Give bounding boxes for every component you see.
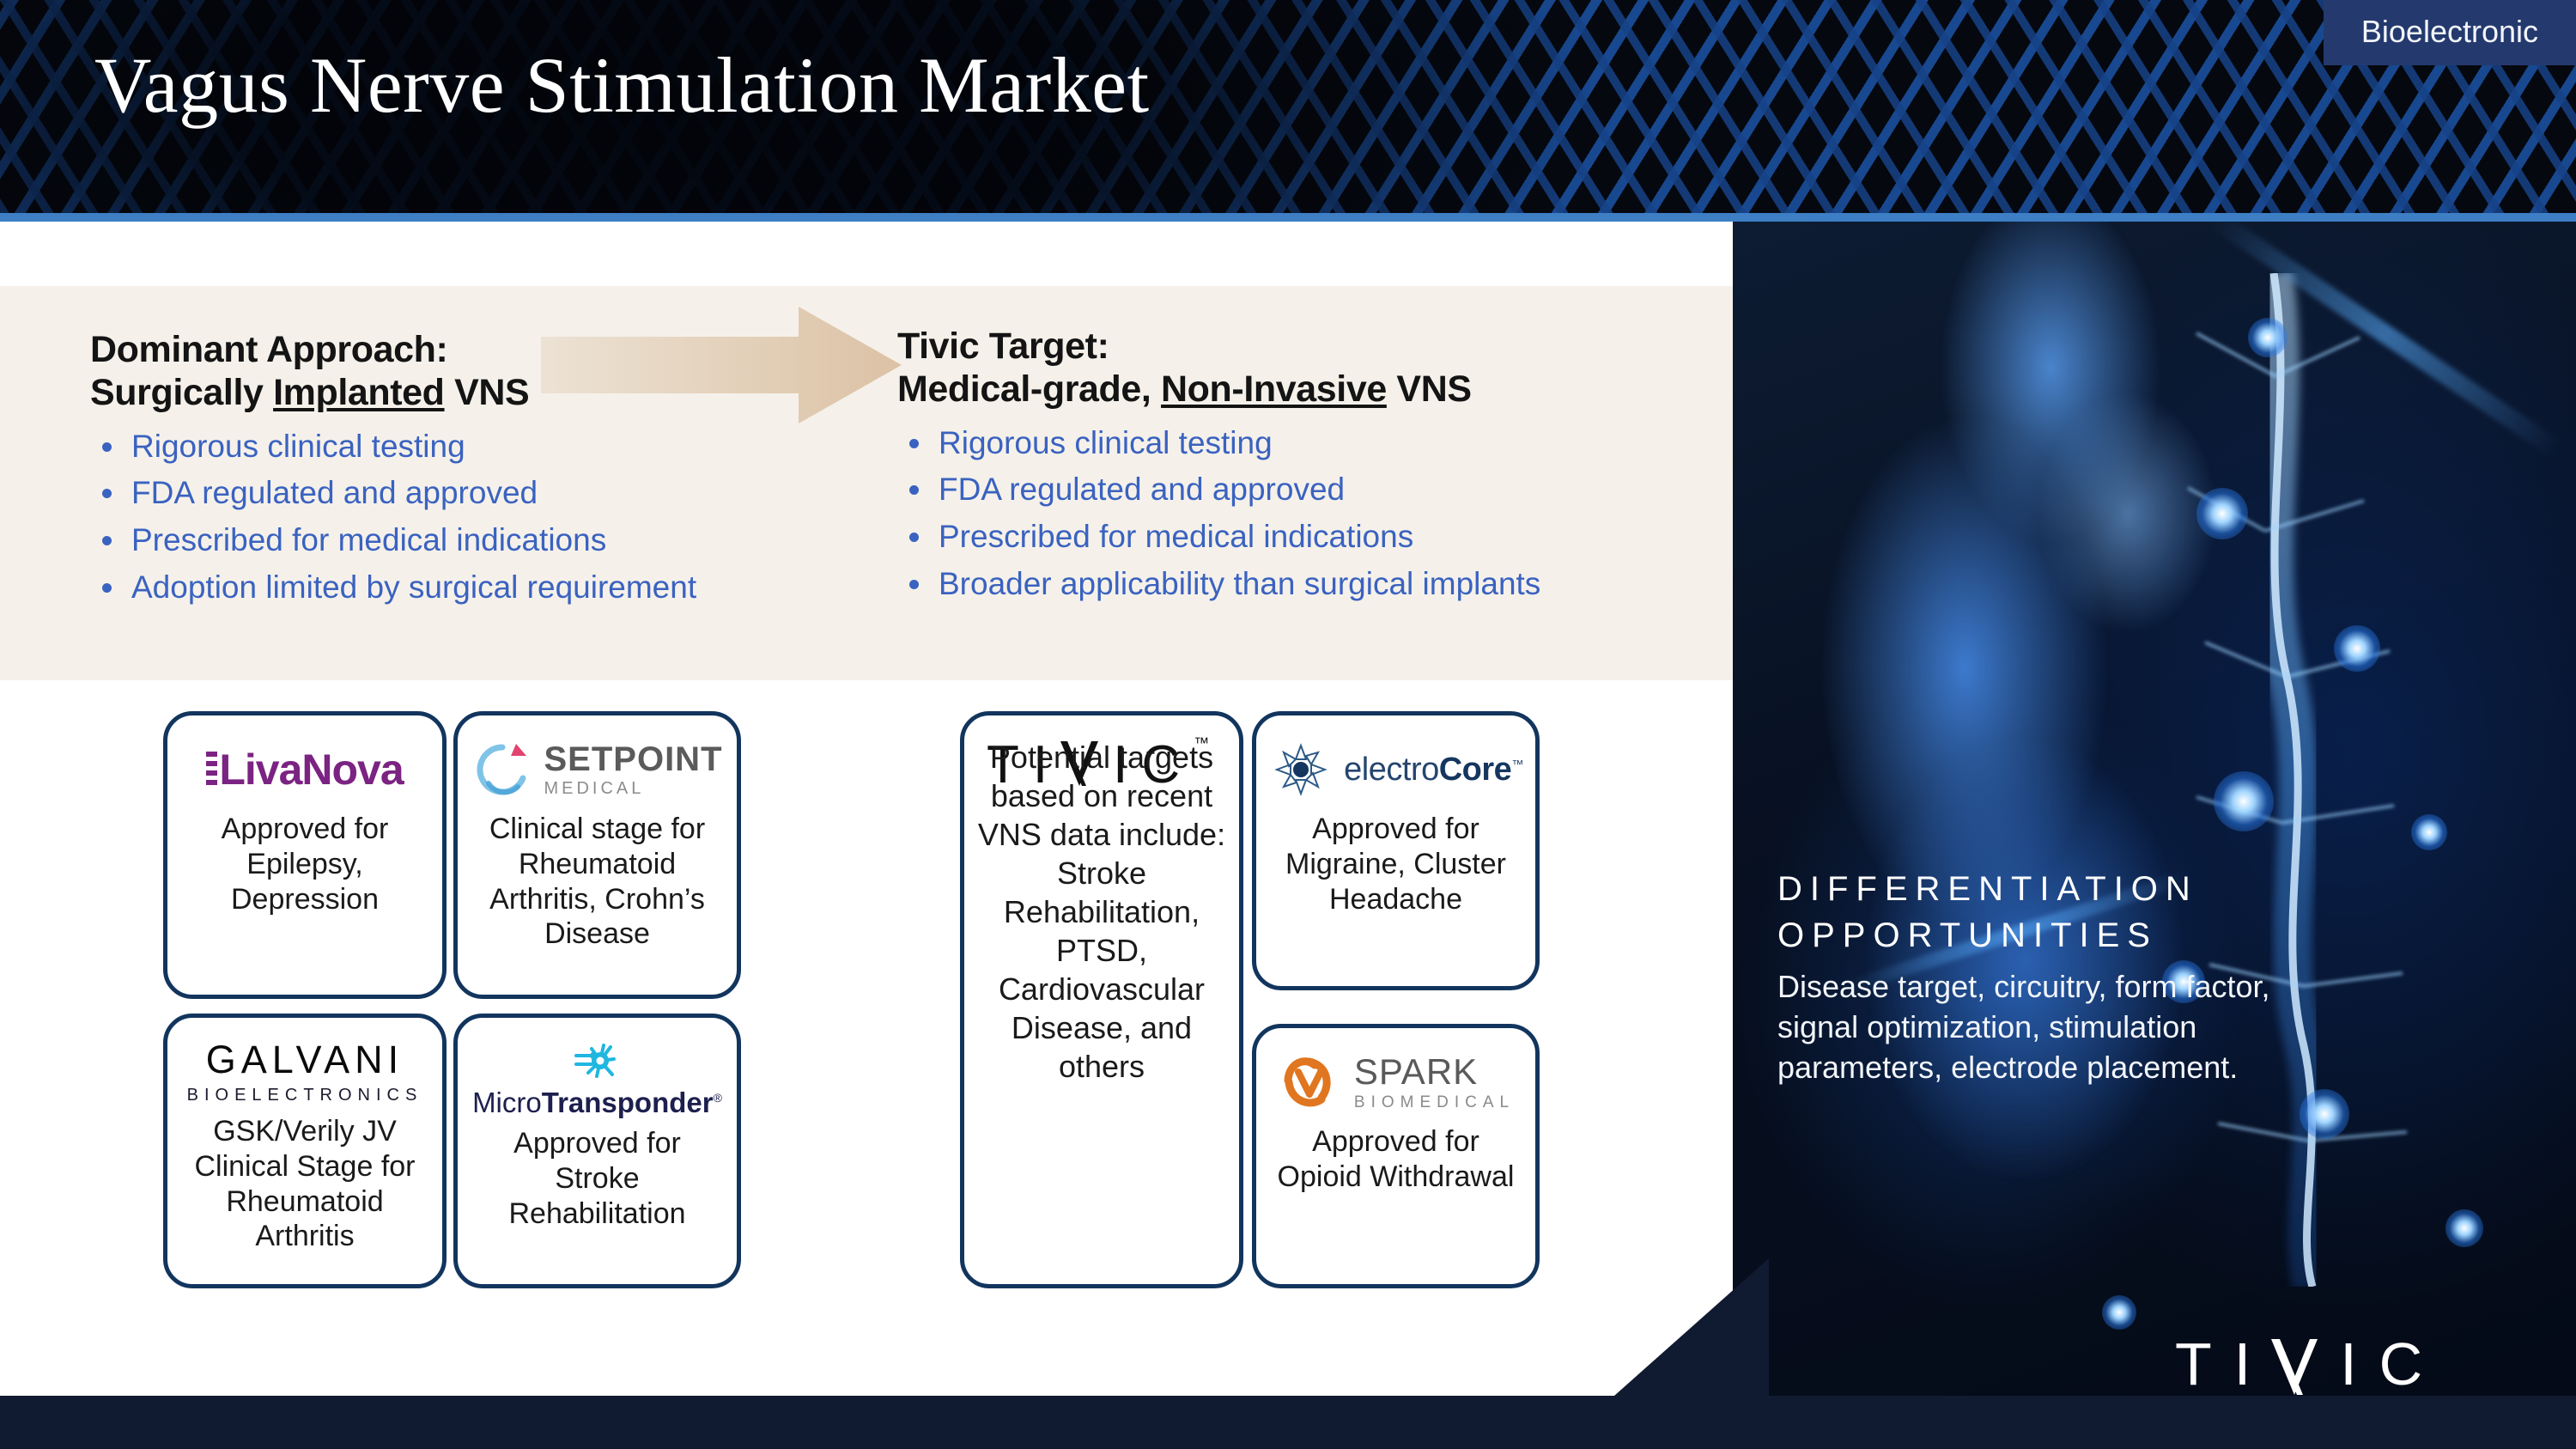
spark-wordmark: SPARK bbox=[1354, 1054, 1515, 1090]
spark-subtitle: BIOMEDICAL bbox=[1354, 1094, 1515, 1111]
setpoint-wordmark: SETPOINT bbox=[544, 742, 722, 776]
header-bottom-rule bbox=[0, 213, 2576, 222]
registered-mark-icon: ® bbox=[714, 1091, 722, 1105]
dominant-heading-line1: Dominant Approach: bbox=[90, 329, 447, 370]
list-item: Rigorous clinical testing bbox=[897, 423, 1713, 463]
spark-logo: SPARK BIOMEDICAL bbox=[1268, 1045, 1523, 1119]
card-electrocore[interactable]: electroCore™ Approved for Migraine, Clus… bbox=[1252, 711, 1540, 990]
setpoint-subtitle: MEDICAL bbox=[544, 780, 722, 797]
galvani-logo: GALVANI BIOELECTRONICS bbox=[179, 1035, 430, 1109]
livanova-wordmark: LivaNova bbox=[219, 745, 403, 795]
trademark-icon: ™ bbox=[1511, 757, 1523, 770]
electrocore-wordmark-light: electro bbox=[1344, 752, 1439, 788]
setpoint-swoosh-icon bbox=[471, 739, 533, 801]
slide-footer-bar bbox=[0, 1396, 2576, 1449]
tivic-heading-underlined: Non-Invasive bbox=[1161, 368, 1387, 410]
card-caption: Approved for Stroke Rehabilitation bbox=[470, 1126, 725, 1231]
list-item: Broader applicability than surgical impl… bbox=[897, 564, 1713, 604]
spark-trefoil-icon bbox=[1277, 1050, 1342, 1115]
glow-node bbox=[2102, 1295, 2136, 1330]
tivic-heading-pre: Medical-grade, bbox=[897, 368, 1161, 410]
glow-node bbox=[2411, 814, 2447, 850]
glow-node bbox=[2214, 771, 2274, 831]
brand-chevron-v-icon bbox=[2268, 1335, 2321, 1398]
setpoint-logo: SETPOINT MEDICAL bbox=[470, 733, 725, 807]
neuron-icon bbox=[566, 1040, 629, 1087]
list-item: Prescribed for medical indications bbox=[90, 521, 880, 560]
dominant-approach-bullets: Rigorous clinical testing FDA regulated … bbox=[90, 427, 880, 608]
hero-image-panel: DIFFERENTIATION OPPORTUNITIES Disease ta… bbox=[1733, 222, 2576, 1449]
dominant-heading-underlined: Implanted bbox=[273, 372, 444, 413]
differentiation-heading-line1: DIFFERENTIATION bbox=[1777, 866, 2310, 912]
card-caption: Approved for Epilepsy, Depression bbox=[179, 812, 430, 916]
card-spark-biomedical[interactable]: SPARK BIOMEDICAL Approved for Opioid Wit… bbox=[1252, 1024, 1540, 1288]
electrocore-logo: electroCore™ bbox=[1268, 733, 1523, 807]
galvani-subtitle: BIOELECTRONICS bbox=[187, 1087, 423, 1104]
corner-wedge bbox=[1614, 1258, 1769, 1396]
dominant-approach-heading: Dominant Approach: Surgically Implanted … bbox=[90, 328, 880, 415]
card-caption: Potential targets based on recent VNS da… bbox=[976, 738, 1227, 1086]
microtransponder-wordmark-bold: Transponder bbox=[542, 1087, 714, 1118]
card-caption: Approved for Opioid Withdrawal bbox=[1268, 1124, 1523, 1195]
brand-letter-t: T bbox=[2175, 1330, 2234, 1398]
brand-letter-c: C bbox=[2379, 1330, 2445, 1398]
livanova-bar-left-icon bbox=[206, 752, 217, 788]
dominant-approach-column: Dominant Approach: Surgically Implanted … bbox=[90, 328, 880, 615]
category-badge: Bioelectronic bbox=[2324, 0, 2576, 65]
card-caption: Approved for Migraine, Cluster Headache bbox=[1268, 812, 1523, 916]
glow-node bbox=[2196, 488, 2248, 539]
card-caption: Clinical stage for Rheumatoid Arthritis,… bbox=[470, 812, 725, 952]
card-livanova[interactable]: LivaNova Approved for Epilepsy, Depressi… bbox=[163, 711, 447, 999]
slide-root: Vagus Nerve Stimulation Market Bioelectr… bbox=[0, 0, 2576, 1449]
card-microtransponder[interactable]: MicroTransponder® Approved for Stroke Re… bbox=[453, 1014, 741, 1288]
glow-node bbox=[2300, 1089, 2349, 1139]
tivic-heading-post: VNS bbox=[1387, 368, 1472, 410]
card-setpoint-medical[interactable]: SETPOINT MEDICAL Clinical stage for Rheu… bbox=[453, 711, 741, 999]
list-item: Rigorous clinical testing bbox=[90, 427, 880, 466]
sunburst-icon bbox=[1268, 737, 1334, 802]
tivic-target-bullets: Rigorous clinical testing FDA regulated … bbox=[897, 423, 1713, 605]
list-item: Adoption limited by surgical requirement bbox=[90, 568, 880, 607]
glow-node bbox=[2334, 625, 2380, 672]
microtransponder-logo: MicroTransponder® bbox=[470, 1035, 725, 1121]
tivic-target-column: Tivic Target: Medical-grade, Non-Invasiv… bbox=[897, 325, 1713, 612]
page-title: Vagus Nerve Stimulation Market bbox=[94, 40, 1150, 131]
tivic-target-heading: Tivic Target: Medical-grade, Non-Invasiv… bbox=[897, 325, 1713, 411]
livanova-logo: LivaNova bbox=[179, 733, 430, 807]
dominant-heading-pre: Surgically bbox=[90, 372, 273, 413]
glow-node bbox=[2248, 318, 2287, 357]
list-item: FDA regulated and approved bbox=[90, 473, 880, 513]
tivic-heading-line1: Tivic Target: bbox=[897, 326, 1109, 367]
card-galvani[interactable]: GALVANI BIOELECTRONICS GSK/Verily JV Cli… bbox=[163, 1014, 447, 1288]
differentiation-callout: DIFFERENTIATION OPPORTUNITIES Disease ta… bbox=[1777, 866, 2310, 1087]
card-tivic[interactable]: T I I C ™ Potential targets based on rec… bbox=[960, 711, 1243, 1288]
list-item: Prescribed for medical indications bbox=[897, 517, 1713, 557]
differentiation-heading-line2: OPPORTUNITIES bbox=[1777, 912, 2310, 959]
glow-node bbox=[2445, 1209, 2483, 1247]
electrocore-wordmark-bold: Core bbox=[1439, 752, 1512, 788]
differentiation-body: Disease target, circuitry, form factor, … bbox=[1777, 967, 2310, 1087]
dominant-heading-post: VNS bbox=[445, 372, 530, 413]
list-item: FDA regulated and approved bbox=[897, 470, 1713, 509]
card-caption: GSK/Verily JV Clinical Stage for Rheumat… bbox=[179, 1114, 430, 1254]
brand-letter-i2: I bbox=[2340, 1330, 2379, 1398]
microtransponder-wordmark-light: Micro bbox=[472, 1087, 542, 1118]
galvani-wordmark: GALVANI bbox=[206, 1040, 404, 1079]
tivic-brand-logo: T I I C bbox=[2175, 1330, 2445, 1398]
